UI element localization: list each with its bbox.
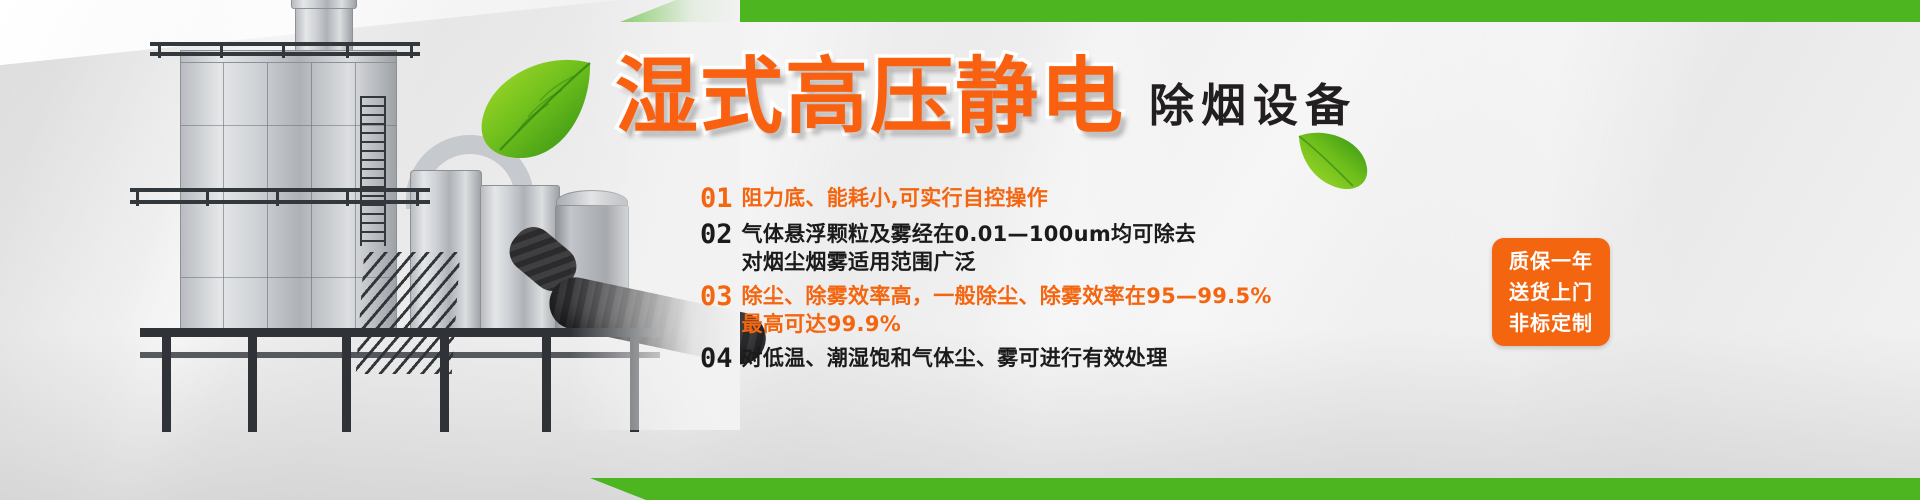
chimney-cap — [291, 0, 357, 9]
badge-line-1: 质保一年 — [1509, 246, 1593, 277]
feature-item-01: 01 阻力底、能耗小,可实行自控操作 — [700, 184, 1300, 214]
feature-line-1: 除尘、除雾效率高，一般除尘、除雾效率在95—99.5% — [742, 284, 1272, 308]
promo-banner: 湿式高压静电 除烟设备 01 阻力底、能耗小,可实行自控操作 02 气体悬浮颗粒… — [0, 0, 1920, 500]
feature-text: 对低温、潮湿饱和气体尘、雾可进行有效处理 — [742, 344, 1168, 372]
guarantee-badge: 质保一年 送货上门 非标定制 — [1492, 238, 1610, 346]
feature-line-2: 对烟尘烟雾适用范围广泛 — [742, 248, 1197, 276]
feature-number: 04 — [700, 344, 733, 374]
badge-line-3: 非标定制 — [1509, 308, 1593, 339]
feature-item-04: 04 对低温、潮湿饱和气体尘、雾可进行有效处理 — [700, 344, 1300, 374]
headline-block: 湿式高压静电 除烟设备 — [615, 55, 1357, 138]
leaf-icon — [478, 57, 596, 162]
feature-text: 阻力底、能耗小,可实行自控操作 — [742, 184, 1048, 212]
top-green-ribbon — [620, 0, 1920, 22]
bottom-green-ribbon — [590, 478, 1920, 500]
feature-line-1: 阻力底、能耗小,可实行自控操作 — [742, 186, 1048, 210]
feature-line-1: 对低温、潮湿饱和气体尘、雾可进行有效处理 — [742, 346, 1168, 370]
page-subtitle: 除烟设备 — [1149, 83, 1357, 138]
leaf-icon — [1297, 130, 1369, 192]
feature-item-03: 03 除尘、除雾效率高，一般除尘、除雾效率在95—99.5% 最高可达99.9% — [700, 282, 1300, 338]
feature-list: 01 阻力底、能耗小,可实行自控操作 02 气体悬浮颗粒及雾经在0.01—100… — [700, 184, 1300, 380]
badge-line-2: 送货上门 — [1509, 277, 1593, 308]
feature-number: 02 — [700, 220, 733, 250]
access-ladder — [360, 96, 386, 246]
feature-text: 除尘、除雾效率高，一般除尘、除雾效率在95—99.5% 最高可达99.9% — [742, 282, 1272, 338]
feature-number: 01 — [700, 184, 733, 214]
feature-line-2: 最高可达99.9% — [742, 310, 1272, 338]
feature-text: 气体悬浮颗粒及雾经在0.01—100um均可除去 对烟尘烟雾适用范围广泛 — [742, 220, 1197, 276]
page-title: 湿式高压静电 — [615, 55, 1125, 138]
feature-number: 03 — [700, 282, 733, 312]
feature-item-02: 02 气体悬浮颗粒及雾经在0.01—100um均可除去 对烟尘烟雾适用范围广泛 — [700, 220, 1300, 276]
feature-line-1: 气体悬浮颗粒及雾经在0.01—100um均可除去 — [742, 222, 1197, 246]
